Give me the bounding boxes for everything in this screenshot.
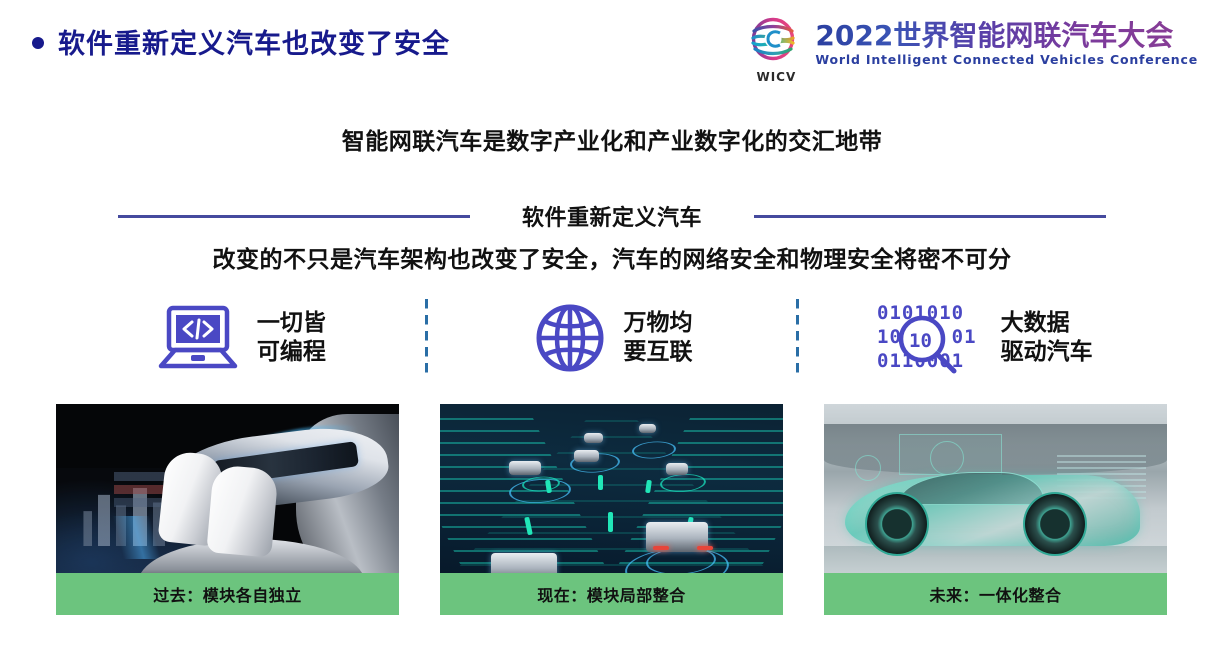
- section-heading: 软件重新定义汽车: [0, 200, 1224, 232]
- lead-statement: 智能网联汽车是数字产业化和产业数字化的交汇地带: [0, 122, 1224, 156]
- feature-bigdata-label: 大数据 驱动汽车: [1001, 309, 1093, 368]
- feature-bigdata-line2: 驱动汽车: [1001, 339, 1093, 365]
- svg-text:10: 10: [909, 330, 932, 352]
- binary-magnifier-icon: 0101010 10 10 01 0110001 10: [875, 301, 985, 375]
- feature-row: 一切皆 可编程 万物均 要互联: [56, 293, 1168, 383]
- feature-connected: 万物均 要互联: [428, 293, 797, 383]
- car-cockpit-interior-photo: [56, 404, 399, 573]
- connected-vehicles-road-photo: [440, 404, 783, 573]
- panel-present: 现在：模块局部整合: [440, 404, 783, 615]
- conference-logo: WICV 2022世界智能网联汽车大会 World Intelligent Co…: [747, 17, 1198, 84]
- conference-title-en: World Intelligent Connected Vehicles Con…: [815, 52, 1198, 67]
- rule-right: [754, 215, 1106, 218]
- page-title-text: 软件重新定义汽车也改变了安全: [58, 22, 450, 61]
- panel-row: 过去：模块各自独立: [56, 404, 1168, 615]
- feature-connected-line1: 万物均: [624, 310, 693, 336]
- wireframe-concept-car-photo: [824, 404, 1167, 573]
- section-heading-text: 软件重新定义汽车: [522, 200, 702, 232]
- feature-programmable: 一切皆 可编程: [56, 293, 425, 383]
- panel-future: 未来：一体化整合: [824, 404, 1167, 615]
- slide-root: 软件重新定义汽车也改变了安全: [0, 0, 1224, 651]
- conference-logo-words: 2022世界智能网联汽车大会 World Intelligent Connect…: [815, 17, 1198, 67]
- section-subheading: 改变的不只是汽车架构也改变了安全，汽车的网络安全和物理安全将密不可分: [0, 240, 1224, 274]
- panel-past-caption: 过去：模块各自独立: [56, 573, 399, 615]
- wicv-circular-logo: [747, 17, 805, 69]
- globe-network-icon: [532, 300, 608, 376]
- wicv-logo-mark: WICV: [747, 17, 805, 84]
- laptop-code-icon: [155, 302, 241, 374]
- conference-title-cn: 2022世界智能网联汽车大会: [815, 21, 1198, 50]
- feature-bigdata: 0101010 10 10 01 0110001 10 大数据 驱动汽车: [799, 293, 1168, 383]
- feature-connected-label: 万物均 要互联: [624, 309, 693, 368]
- page-title: 软件重新定义汽车也改变了安全: [32, 22, 450, 61]
- feature-programmable-label: 一切皆 可编程: [257, 309, 326, 368]
- panel-future-caption: 未来：一体化整合: [824, 573, 1167, 615]
- panel-present-caption: 现在：模块局部整合: [440, 573, 783, 615]
- rule-left: [118, 215, 470, 218]
- feature-bigdata-line1: 大数据: [1001, 310, 1070, 336]
- panel-past: 过去：模块各自独立: [56, 404, 399, 615]
- bullet-icon: [32, 37, 44, 49]
- feature-connected-line2: 要互联: [624, 339, 693, 365]
- feature-programmable-line1: 一切皆: [257, 310, 326, 336]
- feature-programmable-line2: 可编程: [257, 339, 326, 365]
- wicv-logo-caption: WICV: [747, 70, 805, 84]
